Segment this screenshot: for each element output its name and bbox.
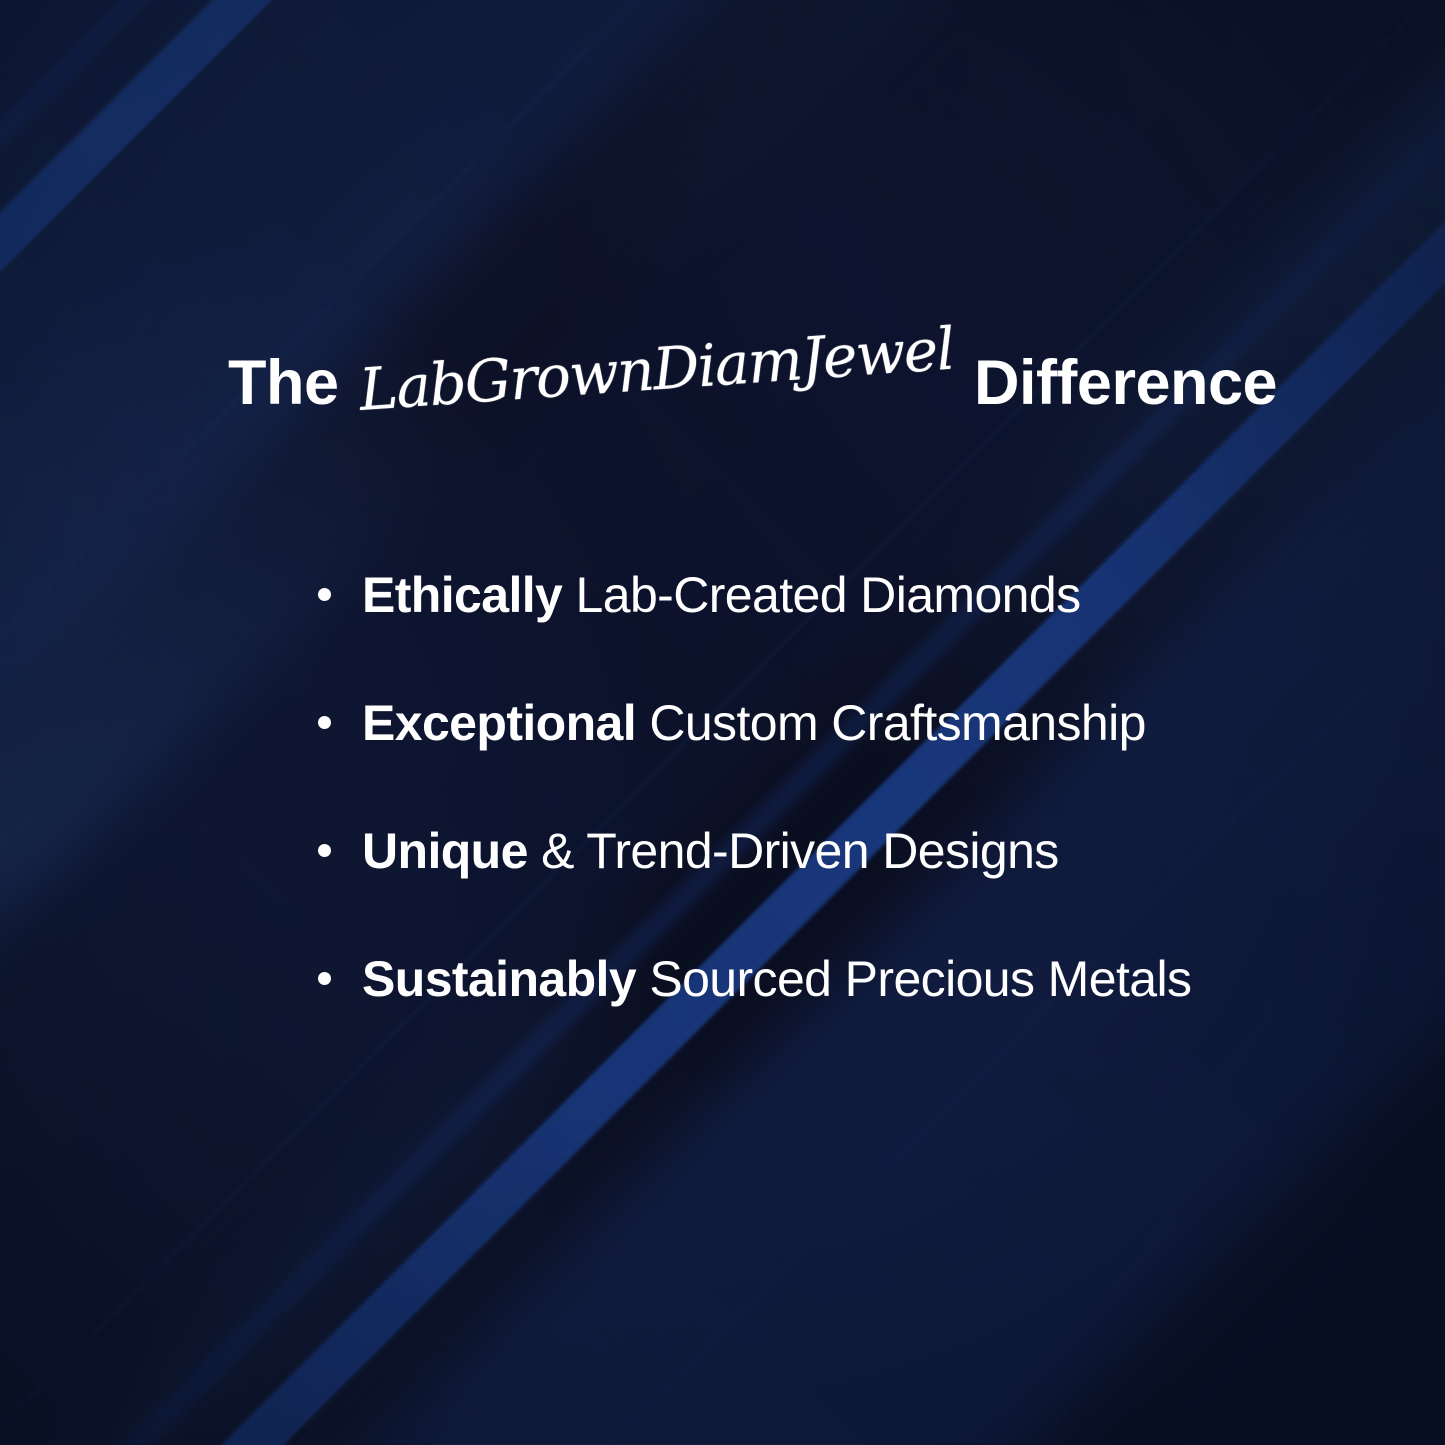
list-item-text: Unique & Trend-Driven Designs [362,826,1059,876]
promo-graphic: The LabGrownDiamJewel Difference Ethical… [0,0,1445,1445]
list-item-rest: & Trend-Driven Designs [528,823,1059,879]
list-item-lead: Sustainably [362,951,636,1007]
list-item-lead: Ethically [362,567,562,623]
list-item-lead: Exceptional [362,695,636,751]
list-item: Ethically Lab-Created Diamonds [318,570,1398,698]
list-item-rest: Sourced Precious Metals [636,951,1191,1007]
title-prefix: The [228,352,339,415]
brand-script-logo: LabGrownDiamJewel [357,320,955,419]
list-item-lead: Unique [362,823,528,879]
bullet-dot-icon [318,716,331,729]
list-item: Unique & Trend-Driven Designs [318,826,1398,954]
list-item-text: Ethically Lab-Created Diamonds [362,570,1081,620]
list-item: Exceptional Custom Craftsmanship [318,698,1398,826]
list-item-rest: Custom Craftsmanship [636,695,1146,751]
feature-list: Ethically Lab-Created Diamonds Exception… [318,570,1398,1082]
list-item-text: Sustainably Sourced Precious Metals [362,954,1191,1004]
list-item: Sustainably Sourced Precious Metals [318,954,1398,1082]
list-item-text: Exceptional Custom Craftsmanship [362,698,1146,748]
bullet-dot-icon [318,844,331,857]
title-suffix: Difference [974,352,1277,415]
page-title: The LabGrownDiamJewel Difference [228,352,1277,415]
bullet-dot-icon [318,972,331,985]
content-layer: The LabGrownDiamJewel Difference Ethical… [0,0,1445,1445]
bullet-dot-icon [318,588,331,601]
list-item-rest: Lab-Created Diamonds [562,567,1080,623]
